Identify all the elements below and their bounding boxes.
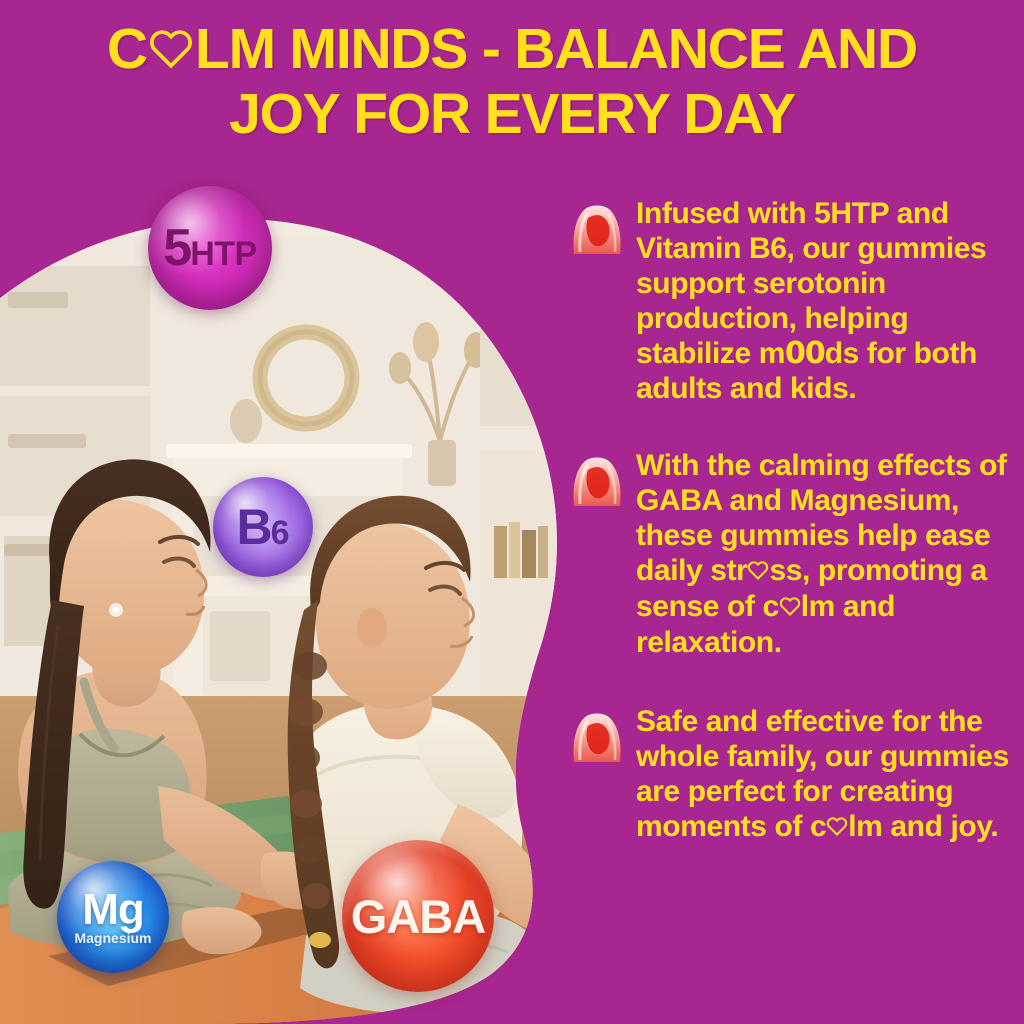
benefit-text-1: Infused with 5HTP and Vitamin B6, our gu… — [636, 196, 1014, 406]
badge-label-b6: B6 — [236, 502, 289, 552]
title-line-2: JOY FOR EVERY DAY — [0, 83, 1024, 145]
page-title: CLM MINDS - BALANCE AND JOY FOR EVERY DA… — [0, 18, 1024, 145]
title-suffix: LM MINDS - BALANCE AND — [195, 17, 917, 81]
infographic-canvas: CLM MINDS - BALANCE AND JOY FOR EVERY DA… — [0, 0, 1024, 1024]
benefits-list: Infused with 5HTP and Vitamin B6, our gu… — [568, 196, 1014, 871]
badge-label-gaba: GABA — [351, 893, 485, 940]
benefit-text-2: With the calming effects of GABA and Mag… — [636, 448, 1014, 660]
gummy-icon — [568, 456, 626, 508]
benefit-item-3: Safe and effective for the whole family,… — [568, 704, 1014, 845]
title-prefix: C — [107, 17, 147, 81]
badge-main-5htp: 5 — [163, 222, 190, 274]
ingredient-badge-b6[interactable]: B6 — [213, 477, 313, 577]
heart-outline-icon — [148, 21, 194, 83]
ingredient-badge-gaba[interactable]: GABA — [342, 840, 494, 992]
gummy-icon — [568, 712, 626, 764]
stylized-zeros: 00 — [785, 336, 825, 371]
gummy-icon — [568, 204, 626, 256]
badge-sub-mg: Magnesium — [74, 931, 151, 945]
heart-outline-icon — [826, 810, 848, 845]
badge-sub-b6: 6 — [271, 516, 290, 550]
benefit-item-1: Infused with 5HTP and Vitamin B6, our gu… — [568, 196, 1014, 406]
benefit-item-2: With the calming effects of GABA and Mag… — [568, 448, 1014, 660]
ingredient-badge-magnesium[interactable]: Mg Magnesium — [57, 861, 169, 973]
heart-outline-icon — [779, 590, 801, 625]
badge-sub-5htp: HTP — [190, 237, 257, 271]
ingredient-badge-5htp[interactable]: 5HTP — [148, 186, 272, 310]
badge-main-b6: B — [236, 502, 270, 552]
badge-label-5htp: 5HTP — [163, 222, 256, 274]
badge-main-mg: Mg — [82, 889, 144, 931]
heart-outline-icon — [747, 554, 769, 589]
title-line-1: CLM MINDS - BALANCE AND — [0, 18, 1024, 83]
benefit-text-3: Safe and effective for the whole family,… — [636, 704, 1014, 845]
